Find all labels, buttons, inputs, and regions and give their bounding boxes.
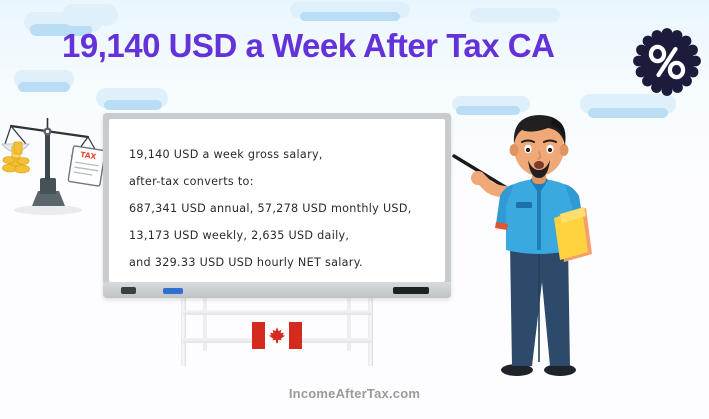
whiteboard-text-block: 19,140 USD a week gross salary, after-ta… xyxy=(129,141,429,276)
board-line-4: 13,173 USD weekly, 2,635 USD daily, xyxy=(129,222,429,249)
blue-marker-icon xyxy=(163,288,183,294)
whiteboard-surface: 19,140 USD a week gross salary, after-ta… xyxy=(109,119,445,282)
stand-leg-left xyxy=(181,296,186,366)
canada-flag-icon xyxy=(252,322,302,349)
board-line-2: after-tax converts to: xyxy=(129,168,429,195)
board-line-5: and 329.33 USD USD hourly NET salary. xyxy=(129,249,429,276)
cloud-decoration xyxy=(104,100,162,110)
board-line-3: 687,341 USD annual, 57,278 USD monthly U… xyxy=(129,195,429,222)
eraser-icon xyxy=(121,287,136,294)
stand-leg-right xyxy=(368,296,373,366)
percent-badge-icon xyxy=(633,28,701,96)
black-marker-icon xyxy=(393,287,429,294)
stand-crossbar-top xyxy=(183,310,371,315)
cloud-decoration xyxy=(18,82,70,92)
board-line-1: 19,140 USD a week gross salary, xyxy=(129,141,429,168)
balance-scale-icon: TAX xyxy=(2,112,110,220)
site-footer: IncomeAfterTax.com xyxy=(0,386,709,401)
page-title: 19,140 USD a Week After Tax CA xyxy=(62,26,642,66)
cloud-decoration xyxy=(300,12,400,21)
cloud-decoration xyxy=(62,4,118,26)
cloud-decoration xyxy=(470,8,560,22)
infographic-canvas: 19,140 USD a Week After Tax CA xyxy=(0,0,709,419)
whiteboard-stand xyxy=(103,296,451,368)
whiteboard: 19,140 USD a week gross salary, after-ta… xyxy=(103,113,451,298)
presenter-character xyxy=(452,104,627,376)
whiteboard-tray xyxy=(103,282,451,298)
